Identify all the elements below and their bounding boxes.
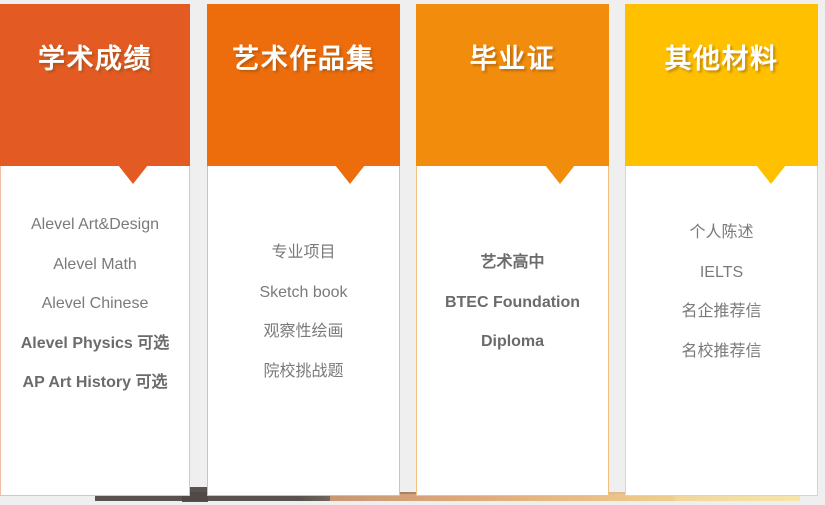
column-header-other-materials: 其他材料 [625, 4, 818, 166]
header-pointer-triangle-icon [335, 165, 365, 184]
column-body-art-portfolio: 专业项目 Sketch book 观察性绘画 院校挑战题 [207, 166, 400, 496]
list-item: IELTS [700, 264, 743, 282]
list-item: Alevel Chinese [42, 295, 149, 313]
list-item: 名校推荐信 [681, 343, 761, 361]
column-title: 其他材料 [665, 37, 779, 76]
column-title: 学术成绩 [38, 37, 152, 76]
column-card-art-portfolio[interactable]: 艺术作品集 专业项目 Sketch book 观察性绘画 院校挑战题 [207, 4, 400, 496]
column-header-art-portfolio: 艺术作品集 [207, 4, 400, 166]
column-title: 艺术作品集 [232, 37, 375, 76]
column-card-other-materials[interactable]: 其他材料 个人陈述 IELTS 名企推荐信 名校推荐信 [625, 4, 818, 496]
column-header-graduation-certificate: 毕业证 [416, 4, 609, 166]
column-body-graduation-certificate: 艺术高中 BTEC Foundation Diploma [416, 166, 609, 496]
list-item: 艺术高中 [480, 254, 544, 272]
list-item: Alevel Physics 可选 [21, 335, 170, 353]
list-item: BTEC Foundation [445, 294, 580, 312]
requirements-board: 学术成绩 Alevel Art&Design Alevel Math Aleve… [0, 0, 825, 505]
list-item: 观察性绘画 [263, 323, 343, 341]
column-body-academic-scores: Alevel Art&Design Alevel Math Alevel Chi… [0, 166, 190, 496]
column-card-academic-scores[interactable]: 学术成绩 Alevel Art&Design Alevel Math Aleve… [0, 4, 190, 496]
column-header-academic-scores: 学术成绩 [0, 4, 190, 166]
list-item: 专业项目 [271, 244, 335, 262]
list-item: AP Art History 可选 [23, 374, 168, 392]
list-item: 个人陈述 [689, 224, 753, 242]
list-item: 名企推荐信 [681, 303, 761, 321]
column-card-graduation-certificate[interactable]: 毕业证 艺术高中 BTEC Foundation Diploma [416, 4, 609, 496]
header-pointer-triangle-icon [118, 165, 148, 184]
list-item: Diploma [481, 333, 544, 351]
column-body-other-materials: 个人陈述 IELTS 名企推荐信 名校推荐信 [625, 166, 818, 496]
column-title: 毕业证 [470, 37, 556, 76]
header-pointer-triangle-icon [756, 165, 786, 184]
list-item: Alevel Art&Design [31, 216, 159, 234]
list-item: Alevel Math [53, 256, 137, 274]
header-pointer-triangle-icon [545, 165, 575, 184]
list-item: Sketch book [259, 284, 347, 302]
list-item: 院校挑战题 [263, 363, 343, 381]
